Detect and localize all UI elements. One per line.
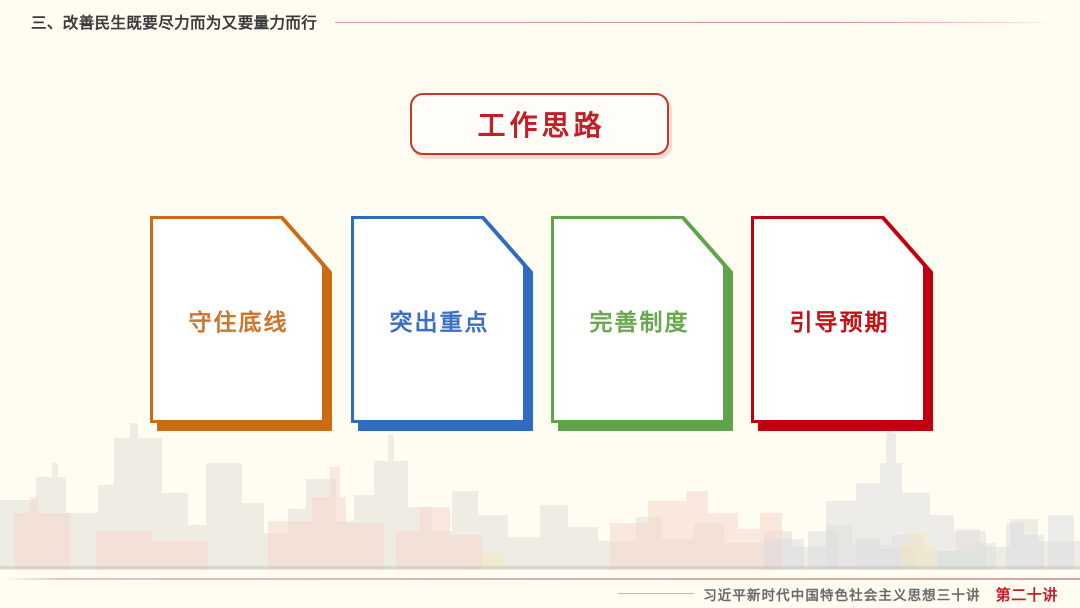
slide-footer: 习近平新时代中国特色社会主义思想三十讲 第二十讲 — [0, 580, 1080, 608]
heading-label: 工作思路 — [473, 104, 605, 144]
slide-canvas: 三、改善民生既要尽力而为又要量力而行 — [0, 0, 1080, 608]
card-shoudi-dixian[interactable]: 守住底线 — [150, 216, 332, 431]
skyline-ground-line — [0, 566, 1080, 569]
card-tuchu-zhongdian[interactable]: 突出重点 — [351, 216, 533, 431]
footer-lesson-number: 第二十讲 — [996, 584, 1058, 605]
slide-header: 三、改善民生既要尽力而为又要量力而行 — [0, 0, 1080, 44]
card-label: 引导预期 — [751, 216, 926, 423]
card-wanshan-zhidu[interactable]: 完善制度 — [551, 216, 733, 431]
footer-dash — [618, 593, 694, 594]
section-title: 三、改善民生既要尽力而为又要量力而行 — [31, 11, 317, 33]
card-label: 完善制度 — [551, 216, 726, 423]
card-yindao-yuqi[interactable]: 引导预期 — [751, 216, 933, 431]
header-divider — [335, 22, 1056, 23]
card-label: 突出重点 — [351, 216, 526, 423]
footer-series-title: 习近平新时代中国特色社会主义思想三十讲 — [703, 584, 980, 604]
card-label: 守住底线 — [150, 216, 325, 423]
work-approach-heading: 工作思路 — [410, 93, 669, 155]
